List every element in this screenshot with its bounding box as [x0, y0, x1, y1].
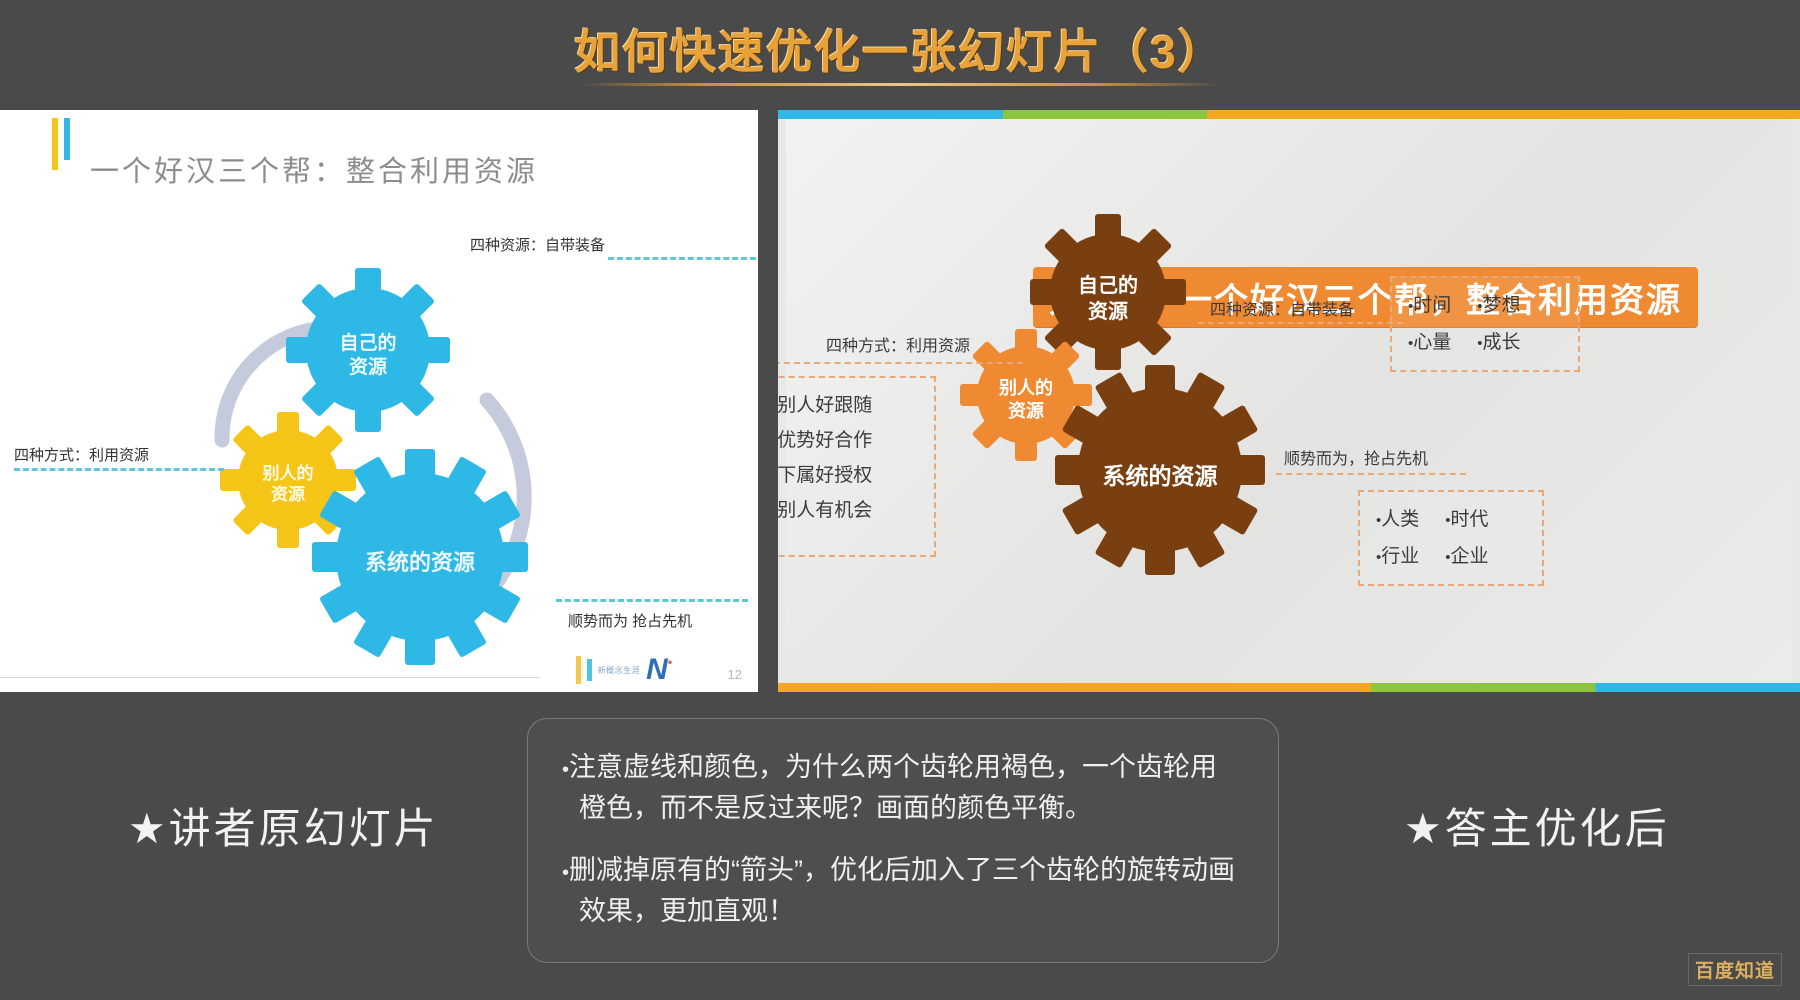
logo-mark-icon: N• [646, 658, 672, 682]
callout-trend-leader-line [1276, 473, 1466, 475]
gear-system-label: 系统的资源 [365, 545, 475, 577]
annotation-trend-dash-left [556, 599, 748, 602]
title-underline-rule [578, 83, 1222, 86]
watermark-badge: 百度知道 [1688, 953, 1782, 986]
callout-trend-items: 人类 时代 行业 企业 [1376, 504, 1489, 568]
gear-others-label-optimized: 别人的 资源 [999, 377, 1053, 424]
optimized-slide: 方法4：一个好汉三个帮，整合利用资源 [778, 110, 1800, 692]
brand-logo: 新概念生涯 N• [576, 656, 672, 684]
slide-page-number: 12 [728, 667, 742, 682]
slide-footer-line [0, 677, 540, 678]
gear-others-label: 别人的 资源 [263, 463, 314, 506]
annotation-resources-left: 四种资源：自带装备 [470, 234, 605, 255]
original-gears-layer [0, 110, 758, 692]
logo-brand-text: 新概念生涯 [598, 665, 641, 676]
footer-label-original: ★讲者原幻灯片 [128, 795, 439, 856]
annotation-resources-dash-left [608, 257, 758, 260]
callout-resources-items: 时间 梦想 心量 成长 [1408, 290, 1521, 354]
callout-methods-leader-line [778, 362, 1023, 364]
callout-resources-leader-line [1198, 322, 1403, 324]
callout-resources-label: 四种资源：自带装备 [1210, 296, 1354, 320]
commentary-item: 删减掉原有的“箭头”，优化后加入了三个齿轮的旋转动画效果，更加直观！ [562, 850, 1242, 931]
gear-self-label-optimized: 自己的 资源 [1078, 273, 1138, 325]
footer-label-optimized: ★答主优化后 [1404, 795, 1670, 856]
logo-bar-blue-icon [587, 659, 592, 681]
page-header: 如何快速优化一张幻灯片（3） [0, 0, 1800, 110]
commentary-panel: 注意虚线和颜色，为什么两个齿轮用褐色，一个齿轮用橙色，而不是反过来呢？画面的颜色… [527, 718, 1279, 963]
gear-system-label-optimized: 系统的资源 [1103, 457, 1218, 491]
annotation-methods-dash-left [14, 468, 224, 471]
slide-comparison-page: 如何快速优化一张幻灯片（3） 一个好汉三个帮：整合利用资源 [0, 0, 1800, 1000]
commentary-item: 注意虚线和颜色，为什么两个齿轮用褐色，一个齿轮用橙色，而不是反过来呢？画面的颜色… [562, 747, 1242, 828]
callout-trend-label: 顺势而为，抢占先机 [1284, 445, 1428, 469]
gear-self-label: 自己的 资源 [339, 332, 396, 380]
original-slide: 一个好汉三个帮：整合利用资源 [0, 110, 758, 692]
callout-methods-label: 四种方式：利用资源 [778, 332, 1058, 356]
annotation-methods-left: 四种方式：利用资源 [14, 444, 149, 465]
callout-methods-items: 信任别人好跟随 互补优势好合作 培养下属好授权 成就别人有机会 [778, 388, 872, 529]
logo-bar-yellow-icon [576, 656, 581, 684]
page-title: 如何快速优化一张幻灯片（3） [0, 16, 1800, 82]
annotation-trend-left: 顺势而为 抢占先机 [568, 610, 692, 631]
